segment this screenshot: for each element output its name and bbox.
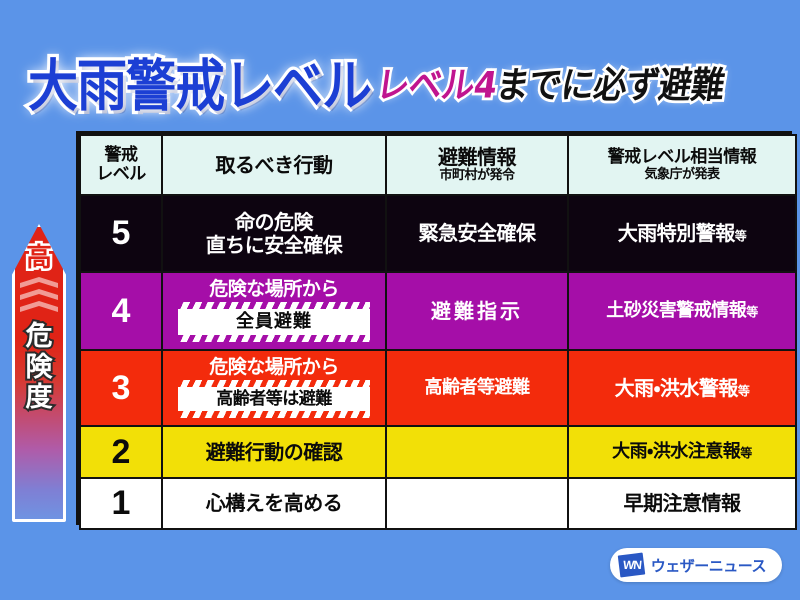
column-header-warning-level-line2: レベル [84,165,158,184]
action-cell-1: 心構えを高める [162,478,386,529]
level-info-suffix-2: 等 [740,446,752,460]
action-text-1-line1: 心構えを高める [166,492,382,515]
weathernews-logo[interactable]: WN ウェザーニュース [610,548,782,582]
level-info-cell-4: 土砂災害警戒情報等 [568,272,796,350]
level-info-text-2: 大雨・洪水注意報等 [572,442,792,463]
action-text-2-line1: 避難行動の確認 [166,441,382,464]
column-header-action-label: 取るべき行動 [166,155,382,176]
title-bar: 大雨警戒レベル レベル4までに必ず避難 [0,46,800,118]
level-number-cell-2: 2 [80,426,162,478]
level-number-cell-3: 3 [80,350,162,426]
column-header-level-equivalent-info-sub: 気象庁が発表 [572,168,792,182]
level-info-suffix-4: 等 [746,305,758,319]
level-number-1: 1 [112,484,131,522]
warning-level-table: 警戒 レベル 取るべき行動 避難情報 市町村が発令 警戒レベル相当情報 気象庁が… [79,134,797,530]
danger-level-arrow: 高 危 険 度 [12,224,66,522]
level-info-cell-3: 大雨・洪水警報等 [568,350,796,426]
action-highlight-text-4: 全員避難 [236,312,312,332]
action-text-5-line1: 命の危険 [166,211,382,234]
action-stack-4: 危険な場所から 全員避難 [166,280,382,342]
action-cell-2: 避難行動の確認 [162,426,386,478]
column-header-evacuation-info: 避難情報 市町村が発令 [386,135,568,195]
level-number-4: 4 [112,292,131,330]
danger-arrow-top-label: 高 [26,245,52,271]
weathernews-mark-text: WN [621,558,640,572]
page-title: 大雨警戒レベル [28,42,371,123]
level-info-cell-1: 早期注意情報 [568,478,796,529]
column-header-evacuation-info-sub: 市町村が発令 [390,169,564,183]
subtitle-level-text: レベル4 [374,63,500,106]
evacuation-info-cell-3: 高齢者等避難 [386,350,568,426]
action-cell-5: 命の危険 直ちに安全確保 [162,195,386,272]
weathernews-logo-text: ウェザーニュース [651,555,766,576]
chevron-up-icon-3 [20,301,58,312]
level-number-cell-1: 1 [80,478,162,529]
table-header-row: 警戒 レベル 取るべき行動 避難情報 市町村が発令 警戒レベル相当情報 気象庁が… [80,135,796,195]
table-row: 2 避難行動の確認 大雨・洪水注意報等 [80,426,796,478]
action-stack-3: 危険な場所から 高齢者等は避難 [166,358,382,419]
action-highlight-text-3: 高齢者等は避難 [216,390,332,409]
column-header-warning-level: 警戒 レベル [80,135,162,195]
evacuation-info-cell-4: 避難指示 [386,272,568,350]
table-row: 5 命の危険 直ちに安全確保 緊急安全確保 大雨特別警報等 [80,195,796,272]
level-info-text-5: 大雨特別警報等 [572,222,792,245]
action-highlight-band-4: 全員避難 [178,302,370,342]
column-header-level-equivalent-info: 警戒レベル相当情報 気象庁が発表 [568,135,796,195]
level-info-text-4: 土砂災害警戒情報等 [572,301,792,322]
action-text-5-line2: 直ちに安全確保 [166,234,382,257]
level-number-cell-4: 4 [80,272,162,350]
danger-arrow-label-char-1: 危 [26,323,53,352]
subtitle-rest-text: までに必ず避難 [494,63,728,106]
level-info-main-1: 早期注意情報 [624,491,741,515]
danger-arrow-label-char-2: 険 [26,354,53,383]
level-info-suffix-5: 等 [735,229,747,243]
action-text-3-line1: 危険な場所から [209,358,339,378]
evacuation-info-cell-5: 緊急安全確保 [386,195,568,272]
level-number-3: 3 [112,369,131,407]
level-info-main-3: 大雨・洪水警報 [615,376,738,400]
chevron-up-icon-1 [20,277,58,288]
level-info-main-2: 大雨・洪水注意報 [612,441,740,462]
level-info-suffix-3: 等 [738,384,750,398]
page-subtitle: レベル4までに必ず避難 [373,56,728,109]
table-row: 1 心構えを高める 早期注意情報 [80,478,796,529]
action-text-4-line1: 危険な場所から [209,280,339,300]
evacuation-info-cell-1 [386,478,568,529]
column-header-warning-level-line1: 警戒 [84,146,158,165]
table-row: 3 危険な場所から 高齢者等は避難 高齢者等避難 大雨・洪水警報等 [80,350,796,426]
level-number-5: 5 [112,214,131,252]
action-cell-4: 危険な場所から 全員避難 [162,272,386,350]
level-info-cell-2: 大雨・洪水注意報等 [568,426,796,478]
level-info-text-1: 早期注意情報 [572,492,792,515]
level-info-main-5: 大雨特別警報 [618,221,735,245]
column-header-evacuation-info-label: 避難情報 [390,147,564,168]
column-header-level-equivalent-info-label: 警戒レベル相当情報 [572,149,792,167]
weathernews-mark-icon: WN [617,553,644,578]
warning-level-table-container: 警戒 レベル 取るべき行動 避難情報 市町村が発令 警戒レベル相当情報 気象庁が… [76,131,792,525]
level-number-cell-5: 5 [80,195,162,272]
chevron-up-icon-2 [20,289,58,300]
level-info-text-3: 大雨・洪水警報等 [572,377,792,400]
action-highlight-band-3: 高齢者等は避難 [178,380,370,419]
table-row: 4 危険な場所から 全員避難 避難指示 土砂災害警戒情報等 [80,272,796,350]
level-info-cell-5: 大雨特別警報等 [568,195,796,272]
column-header-action: 取るべき行動 [162,135,386,195]
danger-arrow-label-char-3: 度 [26,384,53,413]
action-cell-3: 危険な場所から 高齢者等は避難 [162,350,386,426]
level-info-main-4: 土砂災害警戒情報 [606,300,746,321]
evacuation-info-text-4: 避難指示 [390,300,564,323]
level-number-2: 2 [112,433,131,471]
evacuation-info-text-3: 高齢者等避難 [390,378,564,399]
chevron-up-icon [17,275,61,319]
evacuation-info-text-5: 緊急安全確保 [390,222,564,245]
evacuation-info-cell-2 [386,426,568,478]
